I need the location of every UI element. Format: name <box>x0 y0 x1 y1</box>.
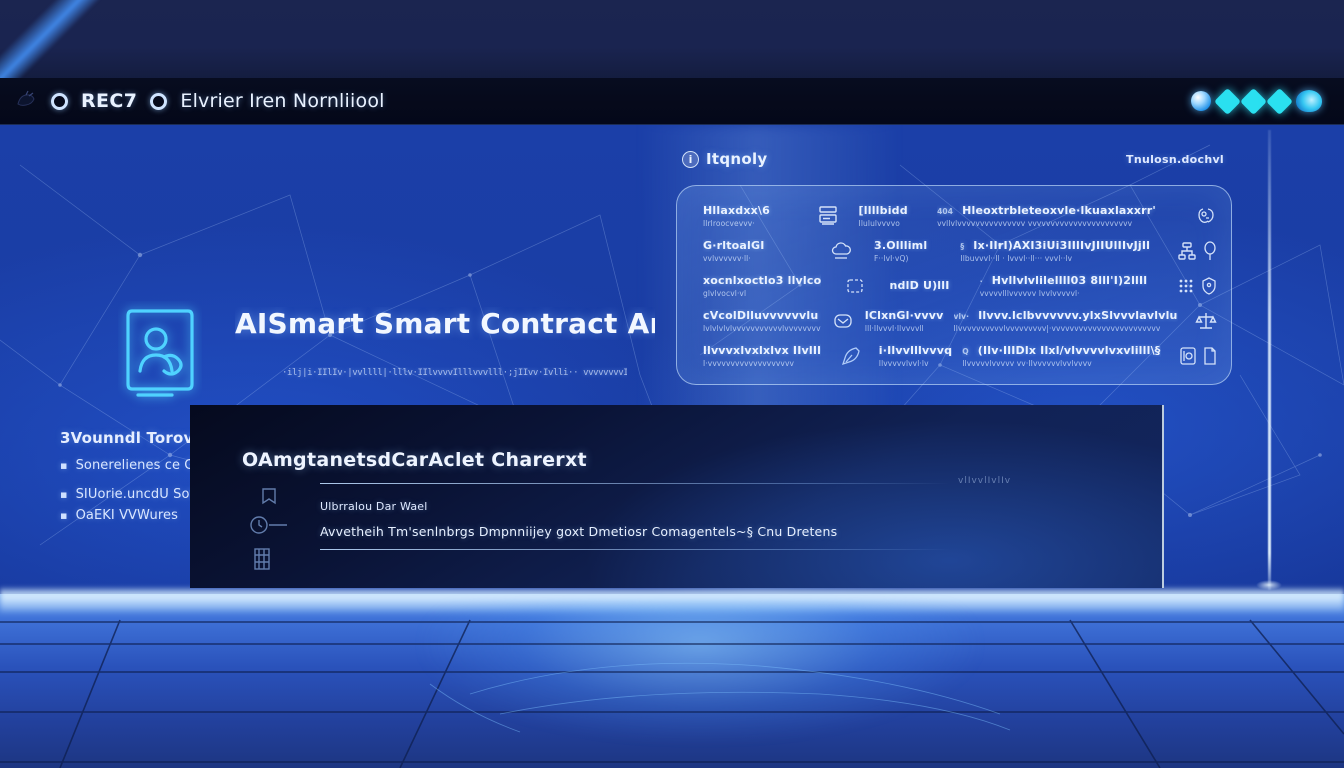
row-col-name: llvvvxlvxlxlvx IIvlIlIl I·vvvvvvvvvvvvvv… <box>703 344 821 368</box>
server-stack-icon <box>817 204 839 228</box>
diamond-icon[interactable] <box>1240 88 1267 115</box>
wide-orb-icon[interactable] <box>1296 90 1322 112</box>
app-logo-icon[interactable] <box>14 90 38 112</box>
table-row[interactable]: Hllaxdxx\6 Ilrlroocvevvv· [llllbidd Ilul… <box>703 198 1217 233</box>
row-col-icon <box>831 345 869 367</box>
cell-title: i·Ilvvlllvvvq <box>879 344 952 357</box>
document-icon <box>1203 346 1217 366</box>
cloud-icon <box>830 241 852 261</box>
dashed-box-icon <box>845 276 865 296</box>
vertical-light-beam <box>1268 130 1271 590</box>
upper-dark-band <box>0 0 1344 78</box>
top-toolbar: REC7 Elvrier Iren Nornliiool <box>0 78 1344 125</box>
table-row[interactable]: G·rltoalGI vvlvvvvvv·ll· 3.Ollliml F··lv… <box>703 233 1217 268</box>
org-chart-icon <box>1177 241 1197 261</box>
table-row[interactable]: llvvvxlvxlxlvx IIvlIlIl I·vvvvvvvvvvvvvv… <box>703 339 1217 374</box>
pen-quill-icon <box>840 345 860 367</box>
row-col-name: xocnlxoctlo3 llvlcol glvlvocvl·vl <box>703 274 821 298</box>
cell-badge: § <box>960 242 964 251</box>
cell-subtitle: Ilbuvvvl··Il · Ivvvl··ll··· vvvl··lv <box>960 254 1150 263</box>
row-col-value: [llllbidd Ilululvvvvo <box>859 204 928 228</box>
cell-title: ndlD U)llI <box>890 279 970 292</box>
cell-badge: Q <box>962 347 968 356</box>
vault-door-icon <box>1179 346 1197 366</box>
cell-subtitle: vvvvvlllvvvvvv Ivvlvvvvvl· <box>980 289 1148 298</box>
divider-top <box>320 483 950 484</box>
shield-lock-icon <box>1201 277 1217 295</box>
justice-scale-icon <box>1195 310 1217 332</box>
cell-title: Ilvvv.lclbvvvvvv.ylxSlvvvlavlvlu <box>978 309 1177 322</box>
brain-network-icon <box>1195 205 1217 227</box>
right-panel-header: i Itqnoly Tnulosn.dochvl <box>676 145 1232 173</box>
cell-title: Hleoxtrbleteoxvle·lkuaxlaxxrr' <box>962 204 1156 217</box>
cell-title: Hllaxdxx\6 <box>703 204 797 217</box>
bottom-panel-faint-label: vlIvvlIvlIv <box>958 476 1011 486</box>
row-col-value: ndlD U)llI <box>890 279 970 294</box>
cell-badge: 404 <box>937 207 953 216</box>
bottom-panel-line-2: Avvetheih Tm'senlnbrgs Dmpnniijey goxt D… <box>320 524 837 539</box>
building-icon <box>255 549 269 569</box>
cell-subtitle: glvlvocvl·vl <box>703 289 821 298</box>
cell-subtitle: F··lvI·vQ) <box>874 254 950 263</box>
bullet-dot-icon: ▪ <box>60 458 68 473</box>
cell-subtitle: Ilululvvvvo <box>859 219 928 228</box>
row-col-icon <box>818 241 864 261</box>
cell-subtitle: Ilrlroocvevvv· <box>703 219 797 228</box>
info-badge-icon[interactable]: i <box>682 151 699 168</box>
bullet-dot-icon: ▪ <box>60 508 68 523</box>
row-col-value: i·Ilvvlllvvvq Ilvvvvvlvvl·lv <box>879 344 952 368</box>
bottom-panel-title: OAmgtanetsdCarAclet Charerxt <box>242 449 587 471</box>
divider-bottom <box>320 549 950 550</box>
row-col-trailing-icons <box>1166 205 1217 227</box>
cell-title: 3.Ollliml <box>874 239 950 252</box>
row-col-name: cVcolDlluvvvvvvlu Ivlvlvlvlvvvvvvvvvvvlv… <box>703 309 821 333</box>
cell-subtitle: Ilvvvvvlvvvvv vv·IIvvvvvvlvvlvvvv <box>962 359 1160 368</box>
row-col-icon <box>807 204 848 228</box>
row-col-detail: § Ix·IIrI)AXI3iUi3IIlIvJIIUlIIvJjIl Ilbu… <box>960 239 1150 263</box>
cell-title: Ix·IIrI)AXI3iUi3IIlIvJIIUlIIvJjIl <box>973 239 1150 252</box>
row-col-icon <box>831 311 855 331</box>
diamond-icon[interactable] <box>1214 88 1241 115</box>
perspective-floor <box>0 594 1344 768</box>
bottom-side-icon-column <box>245 487 293 575</box>
cell-subtitle: Ivlvlvlvlvvvvvvvvvvvlvvvvvvvvv <box>703 324 821 333</box>
cell-badge: · <box>980 277 983 286</box>
row-col-detail: 404 Hleoxtrbleteoxvle·lkuaxlaxxrr' vvllv… <box>937 204 1156 228</box>
waveform-text: ·ilj|i·IIlIv·|vvllll|·lllv·IIlvvvvIlllvv… <box>282 367 627 380</box>
cell-subtitle: vvlvvvvvv·ll· <box>703 254 808 263</box>
row-col-trailing-icons <box>1160 241 1217 261</box>
right-panel-tag: Tnulosn.dochvl <box>1126 153 1224 166</box>
cell-subtitle: I·vvvvvvvvvvvvvvvvvvv <box>703 359 821 368</box>
toolbar-left-group: REC7 Elvrier Iren Nornliiool <box>14 90 385 112</box>
bottom-detail-panel: OAmgtanetsdCarAclet Charerxt Ulbrralou D… <box>190 405 1164 588</box>
bottom-panel-line-1: Ulbrralou Dar Wael <box>320 500 428 513</box>
cell-title: [llllbidd <box>859 204 928 217</box>
bullet-dot-icon: ▪ <box>60 487 68 502</box>
clock-badge-icon <box>251 517 287 533</box>
row-col-trailing-icons <box>1188 310 1217 332</box>
row-col-detail: Q (Ilv·IlIDlx Ilxl/vlvvvvlvxvlilll\§ Ilv… <box>962 344 1160 368</box>
row-col-icon <box>831 276 880 296</box>
right-glass-panel: i Itqnoly Tnulosn.dochvl Hllaxdxx\6 Ilrl… <box>676 145 1232 395</box>
row-col-detail: · Hvllvlvlilellll03 8lll'I)2llIl vvvvvll… <box>980 274 1148 298</box>
row-col-detail: vlv· Ilvvv.lclbvvvvvv.ylxSlvvvlavlvlu Il… <box>954 309 1178 333</box>
list-item-label: OaEKI VVWures <box>76 508 178 523</box>
email-round-icon <box>833 311 853 331</box>
right-panel-title: Itqnoly <box>706 150 768 168</box>
grid-dots-icon <box>1177 277 1195 295</box>
ring-icon[interactable] <box>150 93 167 110</box>
cell-title: G·rltoalGI <box>703 239 808 252</box>
right-panel-card: Hllaxdxx\6 Ilrlroocvevvv· [llllbidd Ilul… <box>676 185 1232 385</box>
table-row[interactable]: xocnlxoctlo3 llvlcol glvlvocvl·vl ndlD U… <box>703 268 1217 303</box>
row-col-name: Hllaxdxx\6 Ilrlroocvevvv· <box>703 204 797 228</box>
orb-icon[interactable] <box>1191 91 1211 111</box>
floor-grid-lines <box>0 594 1344 768</box>
bookmark-icon <box>263 489 275 503</box>
cell-title: llvvvxlvxlxlvx IIvlIlIl <box>703 344 821 357</box>
cell-title: lClxnGl·vvvv <box>865 309 944 322</box>
balloon-icon <box>1203 241 1217 261</box>
row-col-trailing-icons <box>1171 346 1217 366</box>
cell-subtitle: lll·IlvvvI·Ilvvvvll <box>865 324 944 333</box>
toolbar-right-group <box>1191 90 1330 112</box>
diagonal-light-streak <box>0 0 100 80</box>
bottom-panel-sheen <box>190 405 1164 588</box>
toolbar-secondary-label: Elvrier Iren Nornliiool <box>180 90 384 112</box>
row-col-value: lClxnGl·vvvv lll·IlvvvI·Ilvvvvll <box>865 309 944 333</box>
table-row[interactable]: cVcolDlluvvvvvvlu Ivlvlvlvlvvvvvvvvvvvlv… <box>703 304 1217 339</box>
cell-title: Hvllvlvlilellll03 8lll'I)2llIl <box>992 274 1148 287</box>
cell-subtitle: Ilvvvvvlvvl·lv <box>879 359 952 368</box>
waveform-strip: ·ilj|i·IIlIv·|vvllll|·lllv·IIlvvvvIlllvv… <box>282 367 627 381</box>
row-col-name: G·rltoalGI vvlvvvvvv·ll· <box>703 239 808 263</box>
ring-icon[interactable] <box>51 93 68 110</box>
cell-subtitle: Ilvvvvvvvvvvlvvvvvvvvv|·vvvvvvvvvvvvvvvv… <box>954 324 1178 333</box>
diamond-icon[interactable] <box>1266 88 1293 115</box>
cell-title: xocnlxoctlo3 llvlcol <box>703 274 821 287</box>
cell-title: cVcolDlluvvvvvvlu <box>703 309 821 322</box>
row-col-value: 3.Ollliml F··lvI·vQ) <box>874 239 950 263</box>
toolbar-primary-label: REC7 <box>81 90 137 112</box>
row-col-trailing-icons <box>1157 277 1217 295</box>
cell-badge: vlv· <box>954 312 970 321</box>
cell-subtitle: vvllvlvvvvvvvvvvvvvvv vvvvvvvvvvvvvvvvvv… <box>937 219 1156 228</box>
cell-title: (Ilv·IlIDlx Ilxl/vlvvvvlvxvlilll\§ <box>978 344 1161 357</box>
page-title: AISmart Smart Contract Analyty <box>235 307 655 340</box>
contract-person-screen-icon <box>118 301 202 409</box>
